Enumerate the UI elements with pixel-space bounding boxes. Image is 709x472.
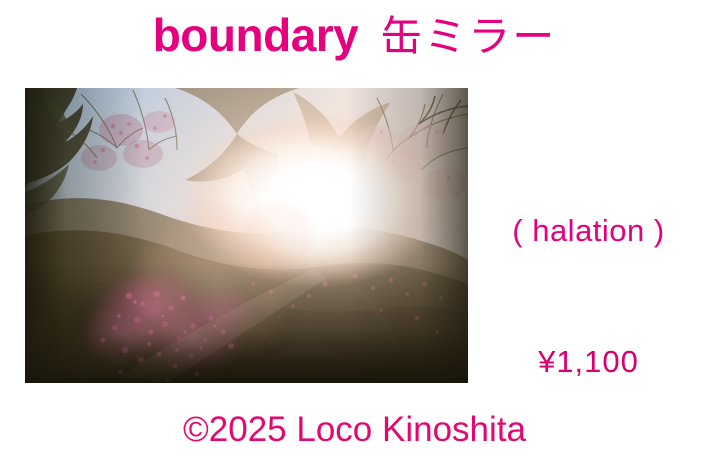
variant-label: ( halation )	[468, 215, 709, 246]
copyright-notice: ©2025 Loco Kinoshita	[0, 412, 709, 447]
page-title: boundary缶ミラー	[0, 12, 709, 58]
price-label: ¥1,100	[468, 346, 709, 377]
product-poster: boundary缶ミラー	[0, 0, 709, 472]
photo-artwork	[25, 88, 468, 383]
product-type-text: 缶ミラー	[380, 13, 556, 60]
product-name-text: boundary	[153, 9, 359, 61]
product-photo	[25, 88, 468, 383]
